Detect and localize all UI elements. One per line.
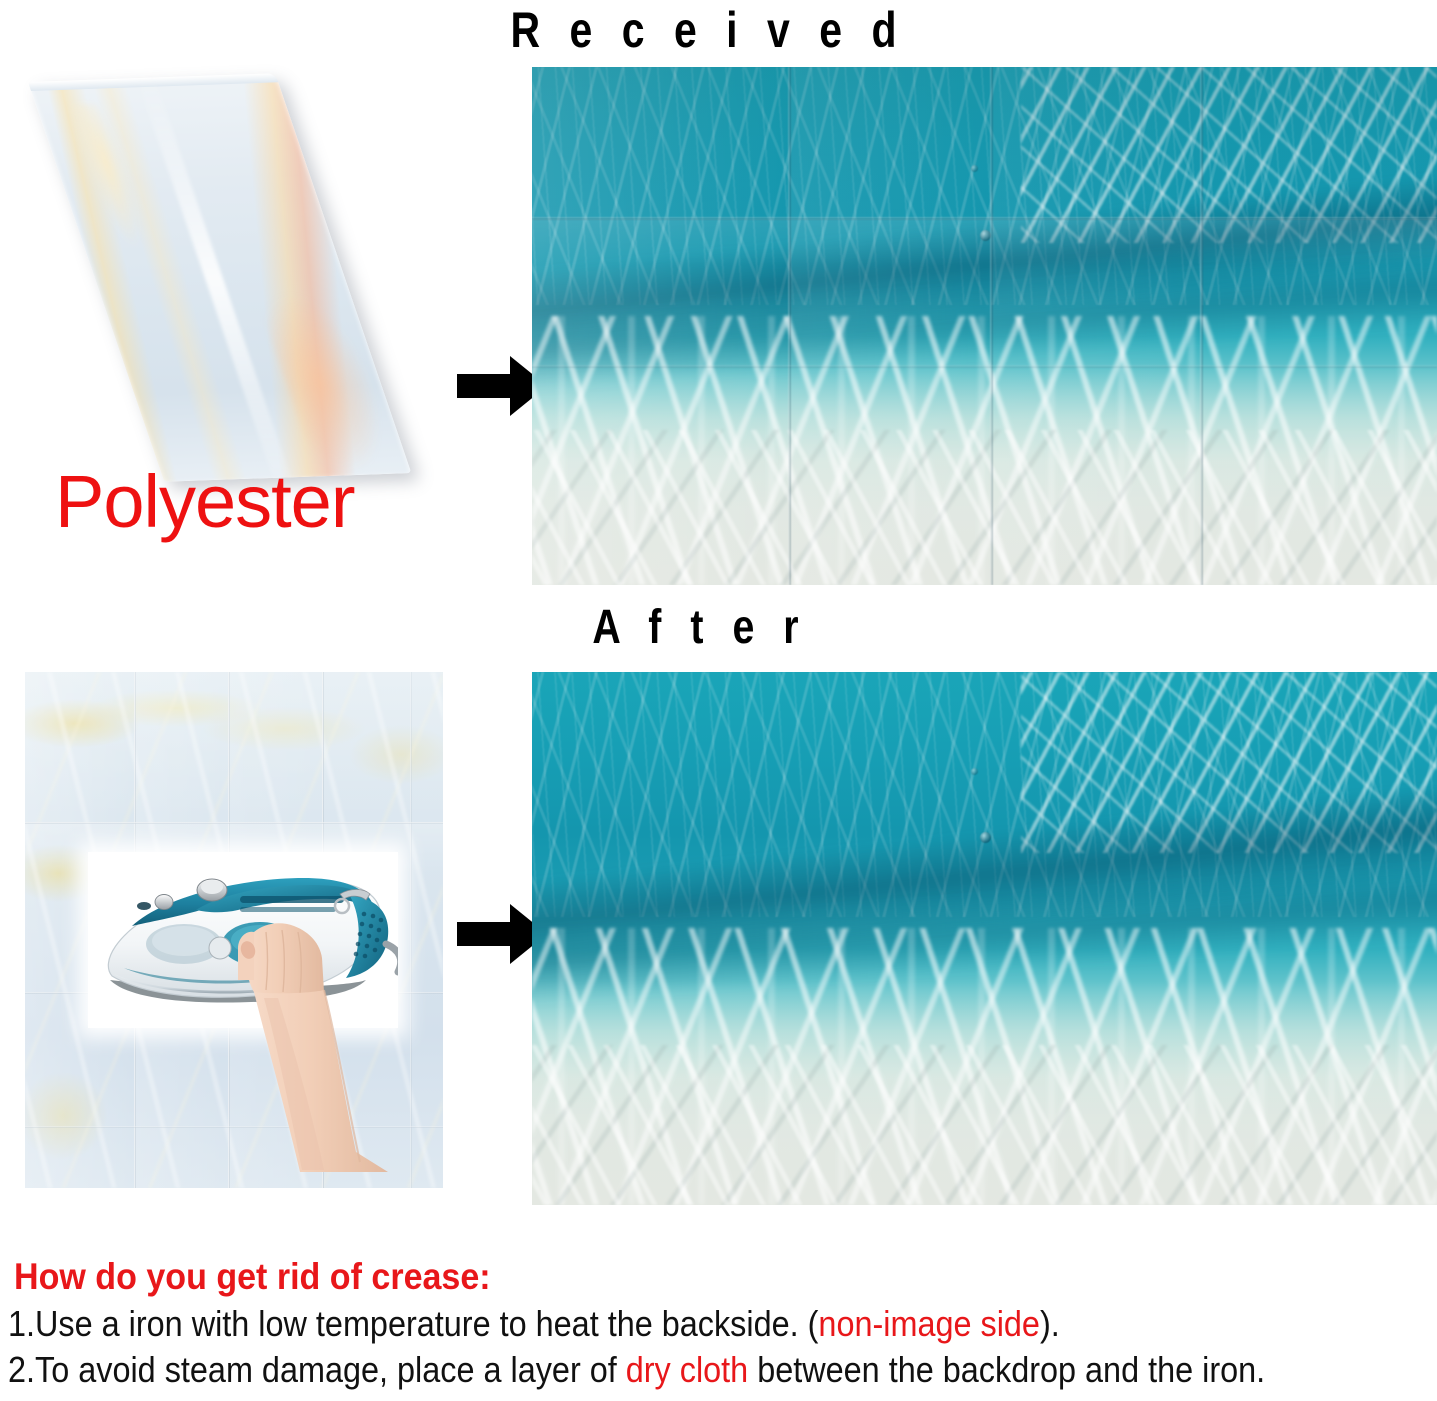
folded-polyester-swatch-image <box>18 78 418 498</box>
clothes-iron-icon <box>88 852 398 1028</box>
received-backdrop-photo <box>532 67 1437 585</box>
howto-step-1-part1: 1.Use a iron with low temperature to hea… <box>8 1303 818 1344</box>
iron-demo-panel <box>88 852 398 1028</box>
swatch-white-fold-line <box>137 78 290 478</box>
swatch-sheet <box>28 73 411 481</box>
water-bubble <box>971 768 978 775</box>
howto-heading: How do you get rid of crease: <box>14 1256 491 1298</box>
howto-step-1-highlight: non-image side <box>818 1303 1040 1344</box>
polyester-material-label: Polyester <box>55 462 354 542</box>
received-heading: R e c e i v e d <box>487 2 930 58</box>
after-heading: A f t e r <box>552 601 847 655</box>
howto-step-2-highlight: dry cloth <box>626 1349 748 1390</box>
howto-step-2: 2.To avoid steam damage, place a layer o… <box>8 1350 1265 1390</box>
howto-step-2-part1: 2.To avoid steam damage, place a layer o… <box>8 1349 626 1390</box>
swatch-gold-vein-upper <box>66 104 155 249</box>
light-caustics-fine <box>532 430 1437 585</box>
howto-step-1: 1.Use a iron with low temperature to hea… <box>8 1304 1060 1344</box>
after-backdrop-photo <box>532 672 1437 1205</box>
light-caustics-fine <box>532 1045 1437 1205</box>
howto-step-2-part2: between the backdrop and the iron. <box>748 1349 1265 1390</box>
water-bubble <box>980 832 991 843</box>
howto-step-1-part2: ). <box>1040 1303 1060 1344</box>
